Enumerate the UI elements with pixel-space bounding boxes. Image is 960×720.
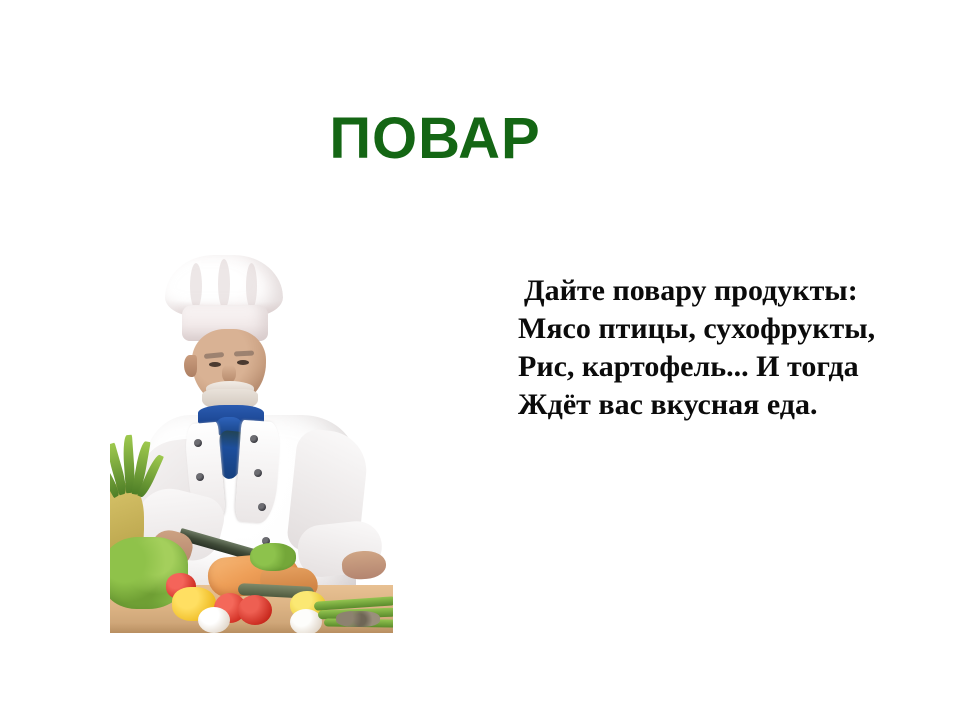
seasoning [336,611,380,627]
chef-eyebrow-right [234,350,254,356]
poem-line-4: Ждёт вас вкусная еда. [518,386,938,424]
onion [198,607,230,633]
tomato [238,595,272,625]
jacket-button [258,503,266,511]
fresh-herbs [250,543,296,571]
hat-fold [218,259,230,309]
chef-eye-left [209,362,221,367]
slide-canvas: ПОВАР Дайте повару продукты: Мясо птицы,… [0,0,960,720]
chef-eye-right [237,360,249,365]
jacket-button [194,439,202,447]
poem-line-1: Дайте повару продукты: [518,272,938,310]
jacket-button [254,469,262,477]
chef-ear [184,355,197,377]
hat-fold [190,263,202,309]
chef-photo [110,255,393,633]
page-title: ПОВАР [0,108,870,170]
jacket-button [196,473,204,481]
poem-line-2: Мясо птицы, сухофрукты, [518,310,938,348]
poem-text-block: Дайте повару продукты: Мясо птицы, сухоф… [518,272,938,424]
jacket-button [250,435,258,443]
poem-line-3: Рис, картофель... И тогда [518,348,938,386]
hat-fold [246,263,257,309]
chef-hand-right [341,549,387,580]
